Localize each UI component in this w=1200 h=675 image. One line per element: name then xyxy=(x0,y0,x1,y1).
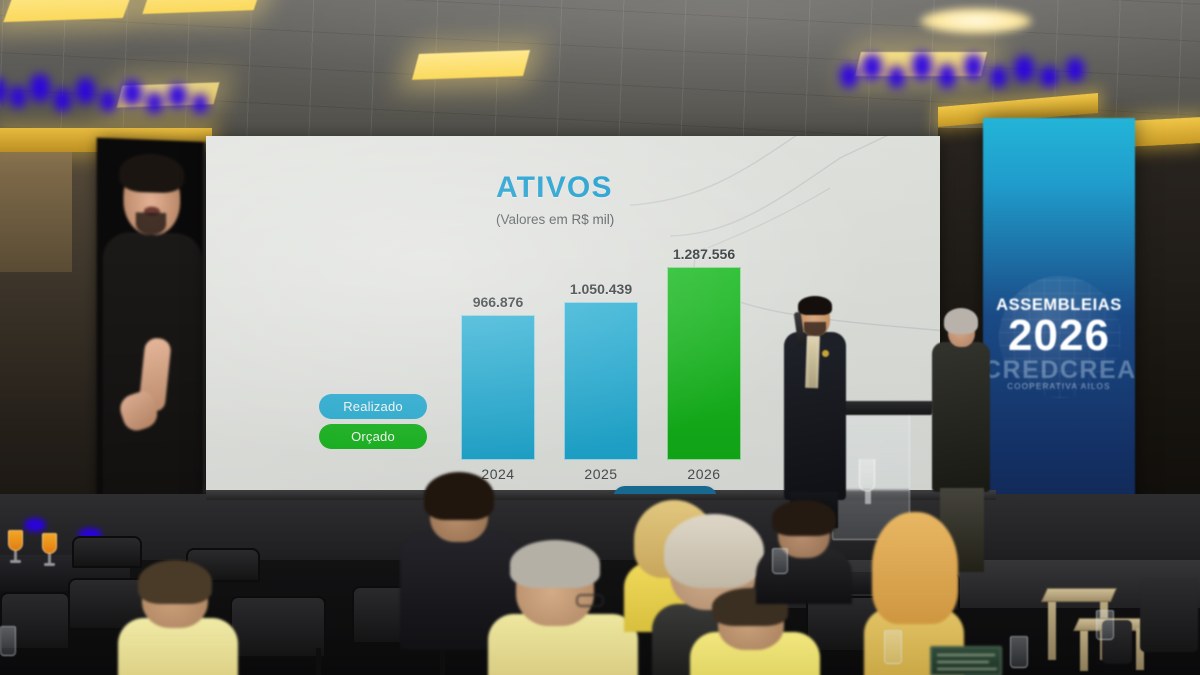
audience-gray-hair xyxy=(510,540,600,588)
water-glass xyxy=(859,459,875,491)
audience-hair xyxy=(138,560,212,604)
conference-room-photo: ATIVOS (Valores em R$ mil) Realizado Orç… xyxy=(0,0,1200,675)
ceiling-light-panel xyxy=(412,50,530,80)
legend-item-orcado: Orçado xyxy=(319,424,427,449)
bar-value-label: 1.287.556 xyxy=(673,246,735,262)
water-glass xyxy=(0,626,16,656)
growth-callout-title: Crescimento xyxy=(627,493,703,494)
interpreter-hair xyxy=(119,153,184,194)
chair xyxy=(230,596,326,658)
banner-year: 2026 xyxy=(983,314,1135,358)
audience-member xyxy=(488,538,638,675)
slide-title: ATIVOS xyxy=(496,171,613,205)
chair-leg xyxy=(316,648,321,675)
standing-attendee-hair xyxy=(944,308,978,334)
left-wall-panel xyxy=(0,152,72,272)
bar-value-label: 966.876 xyxy=(473,294,524,310)
bar-group-2024: 966.876 2024 xyxy=(461,294,535,460)
lapel-pin xyxy=(822,350,829,357)
table-sign xyxy=(930,646,1002,675)
blue-led-cluster-right xyxy=(840,48,1110,96)
presenter-beard xyxy=(804,322,826,336)
audience-white-hair xyxy=(664,514,764,588)
presenter-hair xyxy=(798,296,832,315)
water-glass xyxy=(1096,610,1114,640)
audience-member xyxy=(756,500,852,600)
slide-subtitle: (Valores em R$ mil) xyxy=(496,212,614,227)
stage-monitor-speaker xyxy=(1140,578,1198,652)
orange-juice-glass xyxy=(8,530,23,564)
bar-2024 xyxy=(461,315,535,460)
interpreter-beard xyxy=(136,212,166,235)
legend-label: Realizado xyxy=(343,399,403,414)
audience-hair xyxy=(424,472,494,520)
banner-brand-name: CREDCREA xyxy=(983,356,1135,385)
water-glass xyxy=(884,630,902,664)
bar-value-label: 1.050.439 xyxy=(570,281,632,297)
banner-tagline: COOPERATIVA AILOS xyxy=(983,382,1135,391)
blue-table-light xyxy=(24,518,46,532)
bar-2025 xyxy=(564,302,638,460)
orange-juice-glass xyxy=(42,533,57,567)
audience-member xyxy=(118,560,238,675)
chart-legend: Realizado Orçado xyxy=(319,394,427,449)
audience-hair xyxy=(772,500,836,536)
bar-group-2025: 1.050.439 2025 xyxy=(564,281,638,460)
water-glass xyxy=(1010,636,1028,668)
bar-axis-label: 2026 xyxy=(687,466,720,482)
presenter xyxy=(778,296,854,528)
legend-item-realizado: Realizado xyxy=(319,394,427,419)
eyeglasses-icon xyxy=(576,594,604,607)
blue-led-cluster-left xyxy=(0,72,234,120)
audience-red-hair xyxy=(872,512,958,624)
sign-language-interpreter-screen xyxy=(97,138,206,499)
bar-group-2026: 1.287.556 2026 xyxy=(667,246,741,460)
water-glass xyxy=(772,548,788,574)
bar-axis-label: 2025 xyxy=(584,466,617,482)
standing-attendee-jacket xyxy=(932,342,990,492)
bar-chart: 966.876 2024 1.050.439 2025 1.287.556 20… xyxy=(461,264,761,488)
bar-2026 xyxy=(667,267,741,460)
presenter-tie xyxy=(809,342,816,388)
growth-callout-badge: Crescimento +23% xyxy=(613,486,717,494)
ceiling-downlight xyxy=(920,8,1032,34)
legend-label: Orçado xyxy=(351,429,395,444)
